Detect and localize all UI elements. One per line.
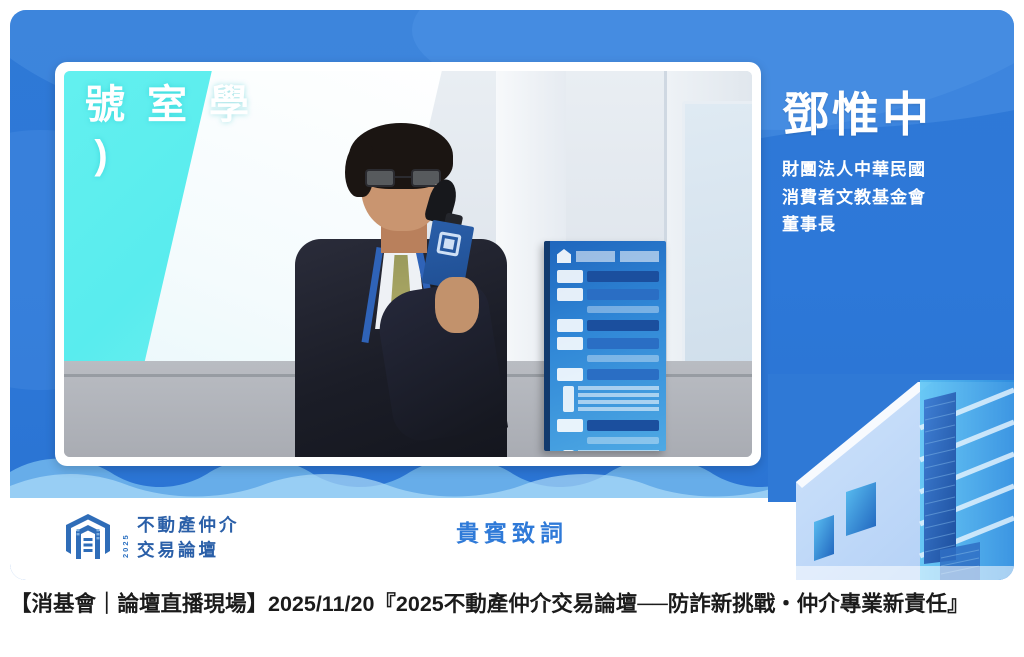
page-caption: 【消基會｜論壇直播現場】2025/11/20『2025不動產仲介交易論壇──防詐… <box>10 588 1020 621</box>
photo-glass-door <box>682 101 752 391</box>
speaker-hand <box>435 277 479 333</box>
event-photo: 學 室 號) <box>64 71 752 457</box>
speaker-info-block: 鄧惟中 財團法人中華民國 消費者文教基金會 董事長 <box>782 88 992 239</box>
speaker-organization: 財團法人中華民國 消費者文教基金會 董事長 <box>782 156 992 239</box>
photo-speaker-figure <box>269 127 569 457</box>
building-illustration <box>768 374 1014 580</box>
slide-page: 學 室 號) <box>0 0 1024 657</box>
event-photo-frame: 學 室 號) <box>55 62 761 466</box>
speaker-glasses-icon <box>365 169 441 187</box>
projector-board-text: 學 室 號) <box>70 83 256 187</box>
hero-card: 學 室 號) <box>10 10 1014 580</box>
speaker-name: 鄧惟中 <box>782 88 992 142</box>
